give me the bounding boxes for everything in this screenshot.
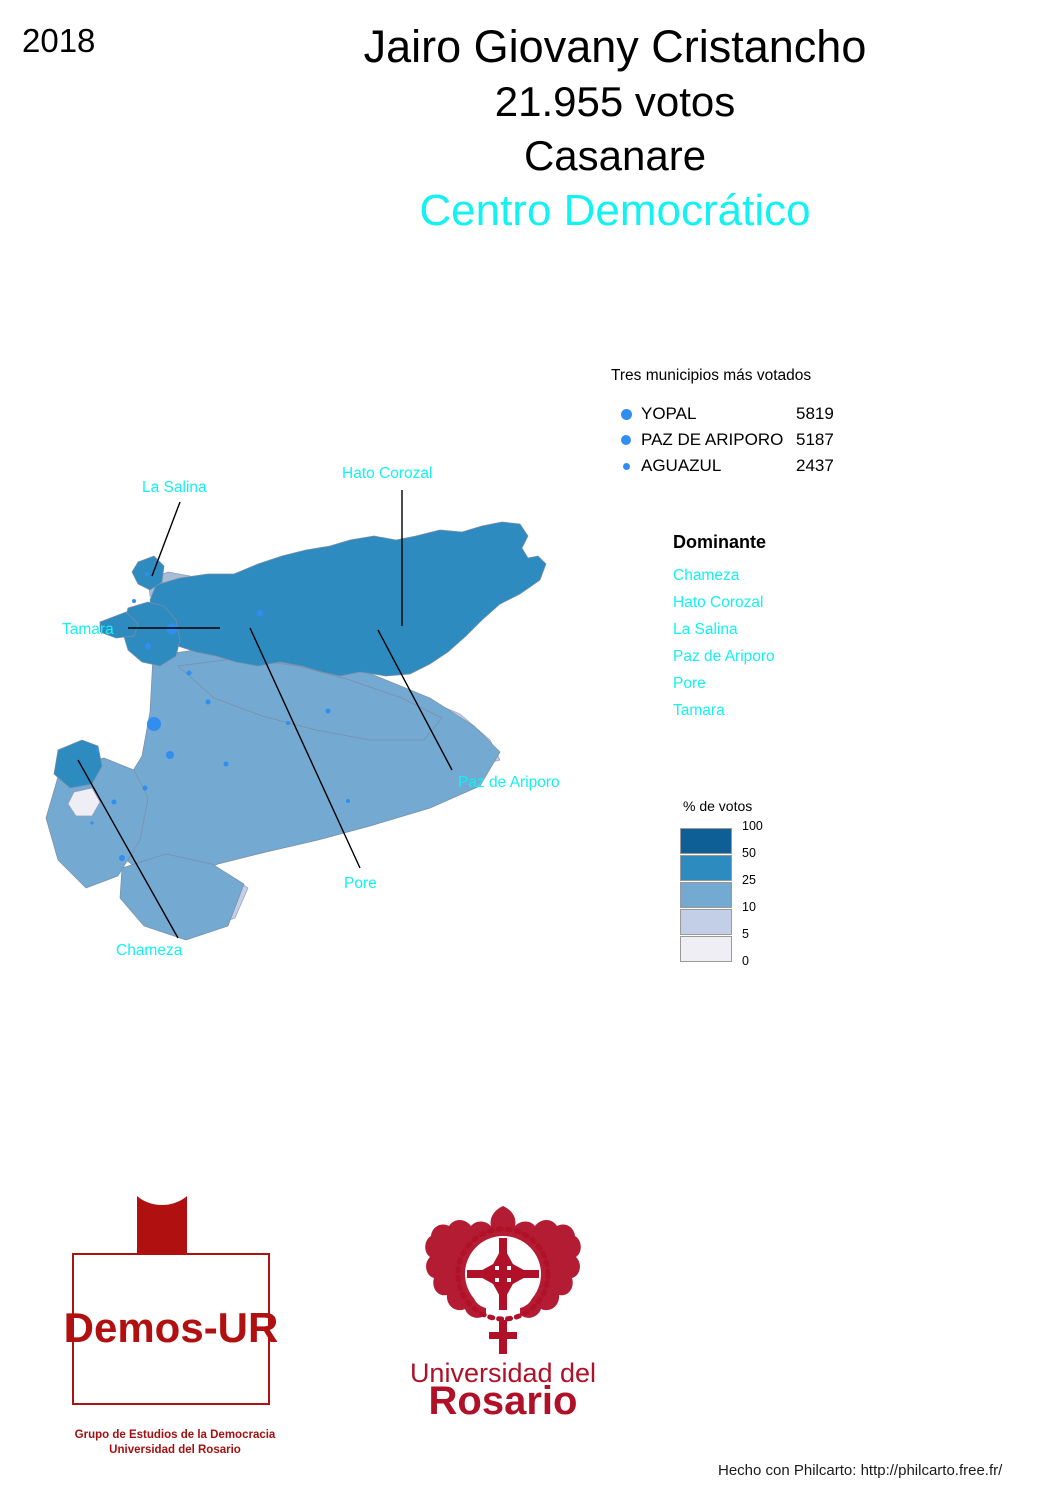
dominante-item: Tamara — [673, 697, 913, 724]
scale-row: 100 50 — [680, 828, 860, 855]
proportional-circle — [326, 709, 331, 714]
proportional-circle — [167, 624, 178, 635]
scale-row: 5 — [680, 909, 860, 936]
scale-legend-rows: 100 50 25 10 5 0 — [680, 828, 860, 963]
philcarto-credit: Hecho con Philcarto: http://philcarto.fr… — [718, 1462, 1002, 1479]
top-municipalities-title: Tres municipios más votados — [611, 367, 911, 385]
scale-swatch — [680, 882, 732, 908]
scale-swatch — [680, 828, 732, 854]
proportional-circle — [166, 751, 174, 759]
map-label-pore: Pore — [344, 875, 377, 892]
demos-ur-wordmark: Demos-UR — [64, 1304, 279, 1351]
proportional-circle — [132, 599, 136, 603]
demos-ur-logo: Demos-UR — [55, 1192, 285, 1422]
department-name: Casanare — [200, 129, 1030, 183]
dominante-item: Chameza — [673, 562, 913, 589]
list-item: AGUAZUL 2437 — [611, 453, 911, 479]
dominante-item: Hato Corozal — [673, 589, 913, 616]
proportional-circle — [90, 821, 93, 824]
scale-swatch — [680, 855, 732, 881]
year-label: 2018 — [22, 24, 95, 57]
scale-row: 25 — [680, 855, 860, 882]
municipality-name: PAZ DE ARIPORO — [641, 430, 796, 450]
scale-swatch — [680, 936, 732, 962]
proportional-circle — [143, 786, 148, 791]
scale-tick-label: 100 — [742, 819, 763, 833]
rosario-line2: Rosario — [429, 1379, 578, 1416]
proportional-circle — [257, 610, 263, 616]
demos-caption-line2: Universidad del Rosario — [40, 1443, 310, 1458]
dominante-title: Dominante — [673, 532, 913, 553]
map-label-hato-corozal: Hato Corozal — [342, 465, 432, 482]
top-municipalities-panel: Tres municipios más votados YOPAL 5819 P… — [611, 367, 911, 479]
scale-row: 10 — [680, 882, 860, 909]
municipality-votes: 2437 — [796, 456, 834, 476]
proportional-circle — [224, 762, 229, 767]
proportional-circle-icon — [611, 409, 641, 420]
proportional-circle — [145, 572, 149, 576]
scale-swatch — [680, 909, 732, 935]
proportional-circle — [147, 717, 161, 731]
municipality-votes: 5819 — [796, 404, 834, 424]
title-block: Jairo Giovany Cristancho 21.955 votos Ca… — [200, 20, 1030, 240]
proportional-circle — [187, 671, 192, 676]
map-region — [150, 522, 546, 676]
proportional-circle — [95, 748, 99, 752]
scale-tick-label: 0 — [742, 954, 749, 968]
map-label-la-salina: La Salina — [142, 479, 207, 496]
scale-row: 0 — [680, 936, 860, 963]
scale-legend: % de votos 100 50 25 10 5 0 — [680, 798, 860, 963]
municipality-name: AGUAZUL — [641, 456, 796, 476]
rosario-crest-icon — [425, 1206, 581, 1354]
map-label-chameza: Chameza — [116, 942, 183, 959]
proportional-circle — [145, 643, 151, 649]
dominante-item: Paz de Ariporo — [673, 643, 913, 670]
dominante-item: La Salina — [673, 616, 913, 643]
list-item: PAZ DE ARIPORO 5187 — [611, 427, 911, 453]
proportional-circle — [286, 721, 290, 725]
proportional-circle — [112, 800, 117, 805]
demos-ur-caption: Grupo de Estudios de la Democracia Unive… — [40, 1428, 310, 1458]
dominante-panel: Dominante Chameza Hato Corozal La Salina… — [673, 532, 913, 724]
municipality-votes: 5187 — [796, 430, 834, 450]
list-item: YOPAL 5819 — [611, 401, 911, 427]
dominante-item: Pore — [673, 670, 913, 697]
municipality-name: YOPAL — [641, 404, 796, 424]
universidad-del-rosario-logo: Universidad del Rosario — [378, 1196, 628, 1416]
proportional-circle — [206, 700, 211, 705]
map-label-tamara: Tamara — [62, 621, 114, 638]
vote-total: 21.955 votos — [200, 75, 1030, 129]
demos-caption-line1: Grupo de Estudios de la Democracia — [40, 1428, 310, 1443]
candidate-name: Jairo Giovany Cristancho — [200, 20, 1030, 75]
scale-legend-title: % de votos — [683, 798, 860, 814]
choropleth-map[interactable]: La Salina Hato Corozal Tamara Paz de Ari… — [30, 440, 650, 980]
leader-line — [152, 502, 180, 576]
proportional-circle — [346, 799, 350, 803]
map-regions — [46, 522, 546, 940]
proportional-circle — [119, 855, 125, 861]
party-name: Centro Democrático — [200, 182, 1030, 239]
map-label-paz-de-ariporo: Paz de Ariporo — [458, 774, 560, 791]
